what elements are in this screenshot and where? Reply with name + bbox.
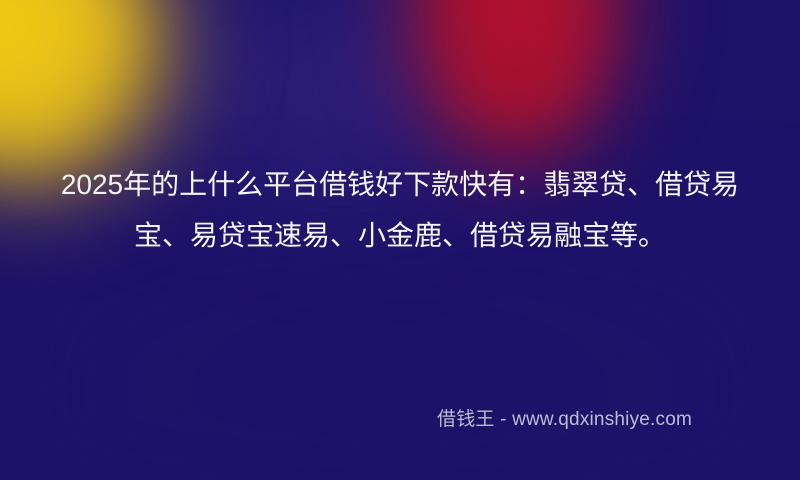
banner-headline: 2025年的上什么平台借钱好下款快有：翡翠贷、借贷易宝、易贷宝速易、小金鹿、借贷… [52,159,748,261]
promo-banner: 2025年的上什么平台借钱好下款快有：翡翠贷、借贷易宝、易贷宝速易、小金鹿、借贷… [0,0,800,480]
site-watermark: 借钱王 - www.qdxinshiye.com [437,407,692,433]
